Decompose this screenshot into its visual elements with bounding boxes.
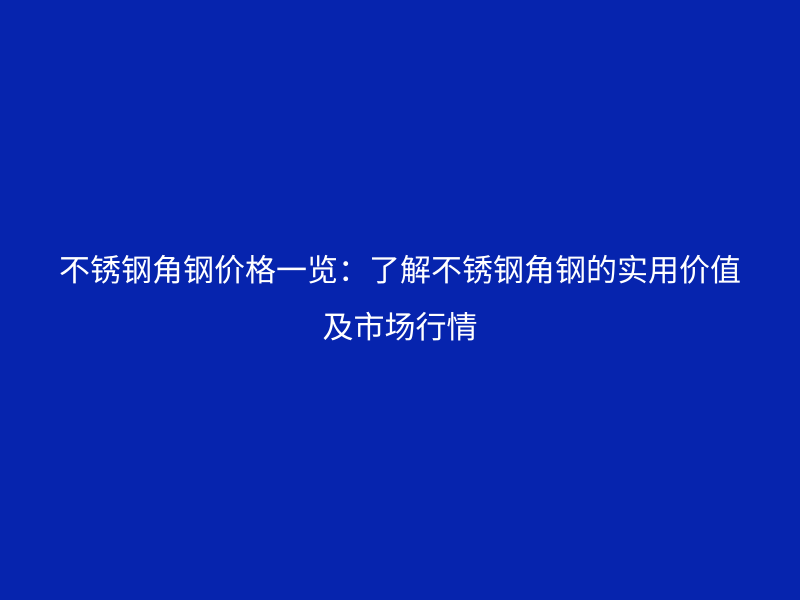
title-block: 不锈钢角钢价格一览：了解不锈钢角钢的实用价值及市场行情 bbox=[50, 243, 750, 357]
page-title: 不锈钢角钢价格一览：了解不锈钢角钢的实用价值及市场行情 bbox=[50, 243, 750, 357]
banner-background: 不锈钢角钢价格一览：了解不锈钢角钢的实用价值及市场行情 bbox=[0, 0, 800, 600]
